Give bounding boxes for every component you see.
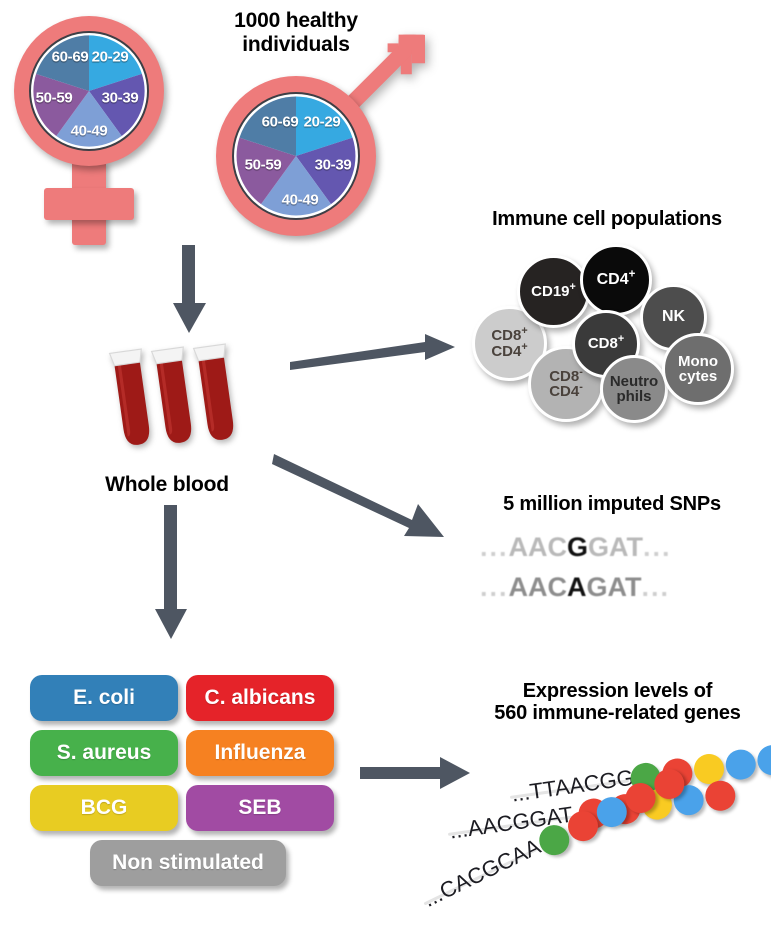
- immune-cell-label: Neutrophils: [610, 374, 658, 405]
- whole-blood-label: Whole blood: [82, 473, 252, 497]
- stimulus-bcg[interactable]: BCG: [30, 785, 178, 831]
- arrow-blood-to-stimuli: [143, 505, 203, 645]
- gene-bead: [755, 743, 771, 777]
- immune-cell-monocytes: Monocytes: [662, 333, 734, 405]
- pie-label-50-59: 50-59: [36, 90, 73, 107]
- snp-after: GAT: [588, 532, 643, 562]
- pie-label-60-69: 60-69: [52, 49, 89, 66]
- pie-label-20-29: 20-29: [92, 49, 129, 66]
- stimuli-panel: E. coli C. albicans S. aureus Influenza …: [30, 675, 340, 895]
- stimulus-e-coli[interactable]: E. coli: [30, 675, 178, 721]
- blood-tube-1: [108, 344, 156, 452]
- gene-strand-group: ...TTAACGG ...AACGGAT ...CACGCAA: [420, 735, 771, 920]
- stimulus-label: E. coli: [73, 686, 135, 710]
- snp-suffix-dots: ...: [642, 572, 671, 602]
- immune-cell-neutrophils: Neutrophils: [600, 355, 668, 423]
- expression-heading: Expression levels of 560 immune-related …: [470, 680, 765, 725]
- snp-before: AAC: [509, 532, 568, 562]
- pie-label-60-69: 60-69: [262, 114, 299, 131]
- snp-variant-allele: G: [567, 532, 588, 562]
- immune-heading: Immune cell populations: [452, 208, 762, 230]
- gene-bead: [724, 748, 758, 782]
- arrow-blood-to-snps: [272, 442, 462, 547]
- blood-tube-2: [150, 342, 198, 450]
- snp-sequence-row-2: ...AACAGAT...: [480, 572, 670, 603]
- snp-before: AAC: [509, 572, 568, 602]
- snp-prefix-dots: ...: [480, 572, 509, 602]
- pie-label-30-39: 30-39: [315, 157, 352, 174]
- blood-tube-3: [192, 339, 240, 447]
- snp-variant-allele: A: [567, 572, 587, 602]
- snp-sequence-row-1: ...AACGGAT...: [480, 532, 672, 563]
- stimulus-influenza[interactable]: Influenza: [186, 730, 334, 776]
- gene-bead: [703, 779, 737, 813]
- stimulus-label: BCG: [81, 796, 128, 820]
- snp-after: GAT: [587, 572, 642, 602]
- stimulus-label: C. albicans: [205, 686, 316, 710]
- arrow-cohort-to-blood: [160, 245, 220, 340]
- pie-label-40-49: 40-49: [71, 123, 108, 140]
- immune-cell-label: Monocytes: [678, 354, 718, 385]
- immune-cell-label: CD8+: [588, 336, 624, 351]
- stimulus-s-aureus[interactable]: S. aureus: [30, 730, 178, 776]
- female-symbol-crossbar: [44, 188, 134, 220]
- stimulus-c-albicans[interactable]: C. albicans: [186, 675, 334, 721]
- stimulus-label: Non stimulated: [112, 851, 264, 875]
- arrow-blood-to-immune-cells: [290, 322, 460, 382]
- immune-cell-label: CD8-CD4-: [549, 369, 583, 400]
- stimulus-label: S. aureus: [57, 741, 152, 765]
- stimulus-label: SEB: [238, 796, 281, 820]
- pie-label-20-29: 20-29: [304, 114, 341, 131]
- whole-blood-tubes: [108, 336, 268, 451]
- immune-cell-label: CD19+: [531, 284, 576, 299]
- immune-cell-cluster: CD8+CD4+ CD19+ CD8-CD4- CD4+ CD8+ Neutro…: [440, 242, 771, 432]
- immune-cell-label: CD8+CD4+: [491, 328, 527, 359]
- male-gender-symbol: 20-29 30-39 40-49 50-59 60-69: [205, 28, 430, 243]
- expression-heading-line2: 560 immune-related genes: [470, 702, 765, 724]
- stimulus-seb[interactable]: SEB: [186, 785, 334, 831]
- immune-cell-cd19plus: CD19+: [517, 255, 590, 328]
- stimulus-non-stimulated[interactable]: Non stimulated: [90, 840, 286, 886]
- snp-suffix-dots: ...: [643, 532, 672, 562]
- stimulus-label: Influenza: [214, 741, 305, 765]
- immune-cell-label: CD4+: [597, 272, 636, 288]
- snps-heading: 5 million imputed SNPs: [462, 493, 762, 515]
- snp-prefix-dots: ...: [480, 532, 509, 562]
- pie-label-30-39: 30-39: [102, 90, 139, 107]
- immune-cell-label: NK: [662, 309, 685, 325]
- pie-label-40-49: 40-49: [282, 192, 319, 209]
- snp-sequence-block: ...AACGGAT... ...AACAGAT...: [480, 528, 760, 624]
- pie-label-50-59: 50-59: [245, 157, 282, 174]
- expression-heading-line1: Expression levels of: [470, 680, 765, 702]
